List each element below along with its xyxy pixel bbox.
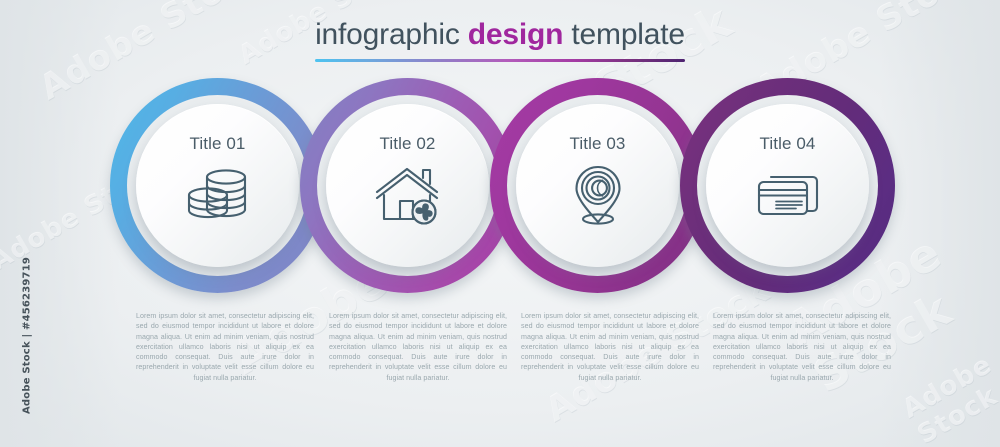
step-disc-1: Title 01 bbox=[136, 104, 299, 267]
description-column-4: Lorem ipsum dolor sit amet, consectetur … bbox=[713, 311, 891, 383]
step-title-2: Title 02 bbox=[380, 134, 436, 154]
description-column-3: Lorem ipsum dolor sit amet, consectetur … bbox=[521, 311, 699, 383]
step-title-4: Title 04 bbox=[760, 134, 816, 154]
step-circles-row: Title 01 bbox=[0, 78, 1000, 293]
step-disc-4: Title 04 bbox=[706, 104, 869, 267]
stacked-coins-icon bbox=[181, 164, 255, 226]
step-node-4[interactable]: Title 04 bbox=[680, 78, 895, 293]
page-title-accent: design bbox=[468, 18, 563, 51]
description-text: Lorem ipsum dolor sit amet, consectetur … bbox=[713, 311, 891, 383]
step-node-2[interactable]: Title 02 bbox=[300, 78, 515, 293]
title-underline-gradient bbox=[315, 59, 685, 62]
step-disc-2: Title 02 bbox=[326, 104, 489, 267]
header: infographic design template bbox=[0, 18, 1000, 62]
credit-card-icon bbox=[751, 164, 825, 226]
map-pin-location-icon bbox=[561, 164, 635, 226]
description-text: Lorem ipsum dolor sit amet, consectetur … bbox=[521, 311, 699, 383]
infographic-canvas: Adobe Stock Adobe Stock AdobeStock Adobe… bbox=[0, 0, 1000, 447]
description-text: Lorem ipsum dolor sit amet, consectetur … bbox=[329, 311, 507, 383]
step-title-3: Title 03 bbox=[570, 134, 626, 154]
step-title-1: Title 01 bbox=[190, 134, 246, 154]
description-column-2: Lorem ipsum dolor sit amet, consectetur … bbox=[329, 311, 507, 383]
page-title-part1: infographic bbox=[315, 18, 468, 51]
house-with-fan-icon bbox=[371, 164, 445, 226]
description-column-1: Lorem ipsum dolor sit amet, consectetur … bbox=[136, 311, 314, 383]
page-title-part2: template bbox=[563, 18, 685, 51]
step-disc-3: Title 03 bbox=[516, 104, 679, 267]
step-node-1[interactable]: Title 01 bbox=[110, 78, 325, 293]
step-node-3[interactable]: Title 03 bbox=[490, 78, 705, 293]
description-columns: Lorem ipsum dolor sit amet, consectetur … bbox=[0, 311, 1000, 421]
description-text: Lorem ipsum dolor sit amet, consectetur … bbox=[136, 311, 314, 383]
page-title: infographic design template bbox=[0, 18, 1000, 52]
